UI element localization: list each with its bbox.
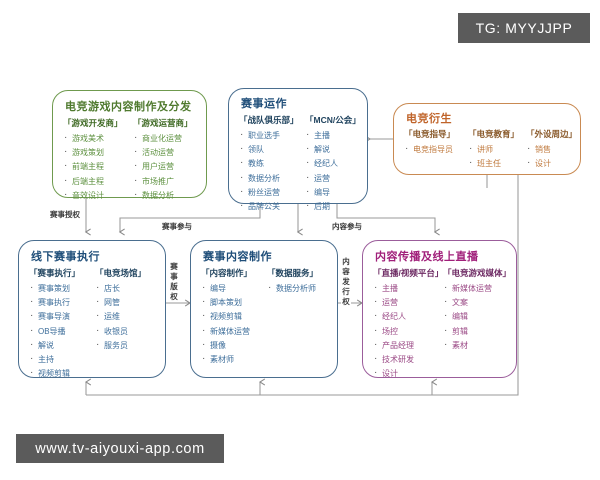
box-game-content[interactable]: 电竞游戏内容制作及分发 「游戏开发商」 游戏美术 游戏策划 前端主程 后端主程 …: [52, 90, 207, 198]
list-item: 收银员: [95, 326, 146, 337]
list-item: 品牌公关: [239, 201, 305, 212]
box-event-operation-title: 赛事运作: [241, 95, 287, 111]
list-item: 设计: [526, 158, 577, 169]
column-esports-game-media: 「电竞游戏媒体」 新媒体运营 文案 编辑 剪辑 素材: [443, 267, 511, 382]
box-content-distribution-live[interactable]: 内容传播及线上直播 「直播/视频平台」 主播 运营 经纪人 场控 产品经理 技术…: [362, 240, 517, 378]
list-item: 经纪人: [305, 158, 361, 169]
column-header: 「MCN/公会」: [305, 114, 361, 126]
list-item: 销售: [526, 144, 577, 155]
list-item: 素材: [443, 340, 511, 351]
connector-label-content-participation: 内容参与: [330, 221, 364, 232]
list-item: 剪辑: [443, 326, 511, 337]
list-item: 赛事执行: [29, 297, 95, 308]
column-header: 「电竞指导」: [404, 128, 468, 140]
list-item: 后期: [305, 201, 361, 212]
list-item: 电竞指导员: [404, 144, 468, 155]
list-item: 脚本策划: [201, 297, 267, 308]
list-item: 编导: [305, 187, 361, 198]
column-header: 「电竞场馆」: [95, 267, 146, 279]
column-header: 「战队俱乐部」: [239, 114, 305, 126]
list-item: 场控: [373, 326, 443, 337]
list-item: 经纪人: [373, 311, 443, 322]
list-item: 职业选手: [239, 130, 305, 141]
column-content-production: 「内容制作」 编导 脚本策划 视频剪辑 新媒体运营 摄像 素材师: [201, 267, 267, 368]
list-item: 主持: [29, 354, 95, 365]
box-offline-event-execution-title: 线下赛事执行: [31, 248, 100, 264]
list-item: 数据分析师: [267, 283, 318, 294]
box-esports-derivatives-title: 电竞衍生: [406, 110, 452, 126]
box-content-distribution-live-columns: 「直播/视频平台」 主播 运营 经纪人 场控 产品经理 技术研发 设计 「电竞游…: [373, 267, 511, 382]
watermark-bottom-left: www.tv-aiyouxi-app.com: [16, 434, 224, 463]
box-content-distribution-live-title: 内容传播及线上直播: [375, 248, 479, 264]
list-item: 新媒体运营: [443, 283, 511, 294]
list-item: 视频剪辑: [201, 311, 267, 322]
column-header: 「外设周边」: [526, 128, 577, 140]
list-item: 赛事策划: [29, 283, 95, 294]
column-header: 「直播/视频平台」: [373, 267, 443, 279]
box-event-operation[interactable]: 赛事运作 「战队俱乐部」 职业选手 领队 教练 数据分析 粉丝运营 品牌公关 「…: [228, 88, 368, 204]
list-item: 后端主程: [63, 176, 133, 187]
column-event-execution: 「赛事执行」 赛事策划 赛事执行 赛事导演 OB导播 解说 主持 视频剪辑: [29, 267, 95, 382]
list-item: 班主任: [468, 158, 526, 169]
list-item: 活动运营: [133, 147, 193, 158]
box-event-content-production-columns: 「内容制作」 编导 脚本策划 视频剪辑 新媒体运营 摄像 素材师 「数据服务」 …: [201, 267, 318, 368]
connector-label-content-distribution-rights: 内容发行权: [341, 257, 351, 307]
list-item: 设计: [373, 368, 443, 379]
column-esports-coaching: 「电竞指导」 电竞指导员: [404, 128, 468, 172]
column-header: 「电竞教育」: [468, 128, 526, 140]
list-item: 运维: [95, 311, 146, 322]
list-item: 数据分析: [133, 190, 193, 201]
box-game-content-title: 电竞游戏内容制作及分发: [65, 98, 192, 114]
box-offline-event-execution[interactable]: 线下赛事执行 「赛事执行」 赛事策划 赛事执行 赛事导演 OB导播 解说 主持 …: [18, 240, 166, 378]
column-team-club: 「战队俱乐部」 职业选手 领队 教练 数据分析 粉丝运营 品牌公关: [239, 114, 305, 215]
list-item: 用户运营: [133, 161, 193, 172]
list-item: OB导播: [29, 326, 95, 337]
list-item: 技术研发: [373, 354, 443, 365]
list-item: 解说: [29, 340, 95, 351]
list-item: 编导: [201, 283, 267, 294]
list-item: 粉丝运营: [239, 187, 305, 198]
list-item: 游戏策划: [63, 147, 133, 158]
list-item: 新媒体运营: [201, 326, 267, 337]
connector-label-event-participation: 赛事参与: [160, 221, 194, 232]
list-item: 数据分析: [239, 173, 305, 184]
column-esports-education: 「电竞教育」 讲师 班主任: [468, 128, 526, 172]
list-item: 素材师: [201, 354, 267, 365]
list-item: 主播: [305, 130, 361, 141]
box-offline-event-execution-columns: 「赛事执行」 赛事策划 赛事执行 赛事导演 OB导播 解说 主持 视频剪辑 「电…: [29, 267, 146, 382]
list-item: 赛事导演: [29, 311, 95, 322]
column-esports-venue: 「电竞场馆」 店长 网管 运维 收银员 服务员: [95, 267, 146, 382]
list-item: 网管: [95, 297, 146, 308]
list-item: 主播: [373, 283, 443, 294]
column-header: 「游戏开发商」: [63, 117, 133, 129]
column-game-operator: 「游戏运营商」 商业化运营 活动运营 用户运营 市场推广 数据分析: [133, 117, 193, 204]
box-game-content-columns: 「游戏开发商」 游戏美术 游戏策划 前端主程 后端主程 音效设计 「游戏运营商」…: [63, 117, 193, 204]
box-event-operation-columns: 「战队俱乐部」 职业选手 领队 教练 数据分析 粉丝运营 品牌公关 「MCN/公…: [239, 114, 361, 215]
list-item: 前端主程: [63, 161, 133, 172]
list-item: 运营: [373, 297, 443, 308]
list-item: 市场推广: [133, 176, 193, 187]
list-item: 解说: [305, 144, 361, 155]
column-header: 「赛事执行」: [29, 267, 95, 279]
list-item: 运营: [305, 173, 361, 184]
list-item: 文案: [443, 297, 511, 308]
list-item: 产品经理: [373, 340, 443, 351]
box-event-content-production-title: 赛事内容制作: [203, 248, 272, 264]
connector-label-event-authorization: 赛事授权: [48, 209, 82, 220]
column-data-service: 「数据服务」 数据分析师: [267, 267, 318, 368]
list-item: 编辑: [443, 311, 511, 322]
column-header: 「数据服务」: [267, 267, 318, 279]
column-mcn-guild: 「MCN/公会」 主播 解说 经纪人 运营 编导 后期: [305, 114, 361, 215]
box-event-content-production[interactable]: 赛事内容制作 「内容制作」 编导 脚本策划 视频剪辑 新媒体运营 摄像 素材师 …: [190, 240, 338, 378]
list-item: 店长: [95, 283, 146, 294]
box-esports-derivatives-columns: 「电竞指导」 电竞指导员 「电竞教育」 讲师 班主任 「外设周边」 销售 设计: [404, 128, 577, 172]
list-item: 游戏美术: [63, 133, 133, 144]
list-item: 教练: [239, 158, 305, 169]
list-item: 视频剪辑: [29, 368, 95, 379]
list-item: 服务员: [95, 340, 146, 351]
column-header: 「内容制作」: [201, 267, 267, 279]
diagram-canvas: 电竞游戏内容制作及分发 「游戏开发商」 游戏美术 游戏策划 前端主程 后端主程 …: [0, 0, 600, 480]
watermark-top-right: TG: MYYJJPP: [458, 13, 590, 43]
list-item: 领队: [239, 144, 305, 155]
connector-label-event-copyright: 赛事版权: [169, 262, 179, 302]
list-item: 商业化运营: [133, 133, 193, 144]
column-game-developer: 「游戏开发商」 游戏美术 游戏策划 前端主程 后端主程 音效设计: [63, 117, 133, 204]
list-item: 音效设计: [63, 190, 133, 201]
column-peripherals: 「外设周边」 销售 设计: [526, 128, 577, 172]
column-header: 「游戏运营商」: [133, 117, 193, 129]
column-header: 「电竞游戏媒体」: [443, 267, 511, 279]
list-item: 摄像: [201, 340, 267, 351]
box-esports-derivatives[interactable]: 电竞衍生 「电竞指导」 电竞指导员 「电竞教育」 讲师 班主任 「外设周边」 销…: [393, 103, 581, 175]
list-item: 讲师: [468, 144, 526, 155]
column-live-video-platform: 「直播/视频平台」 主播 运营 经纪人 场控 产品经理 技术研发 设计: [373, 267, 443, 382]
